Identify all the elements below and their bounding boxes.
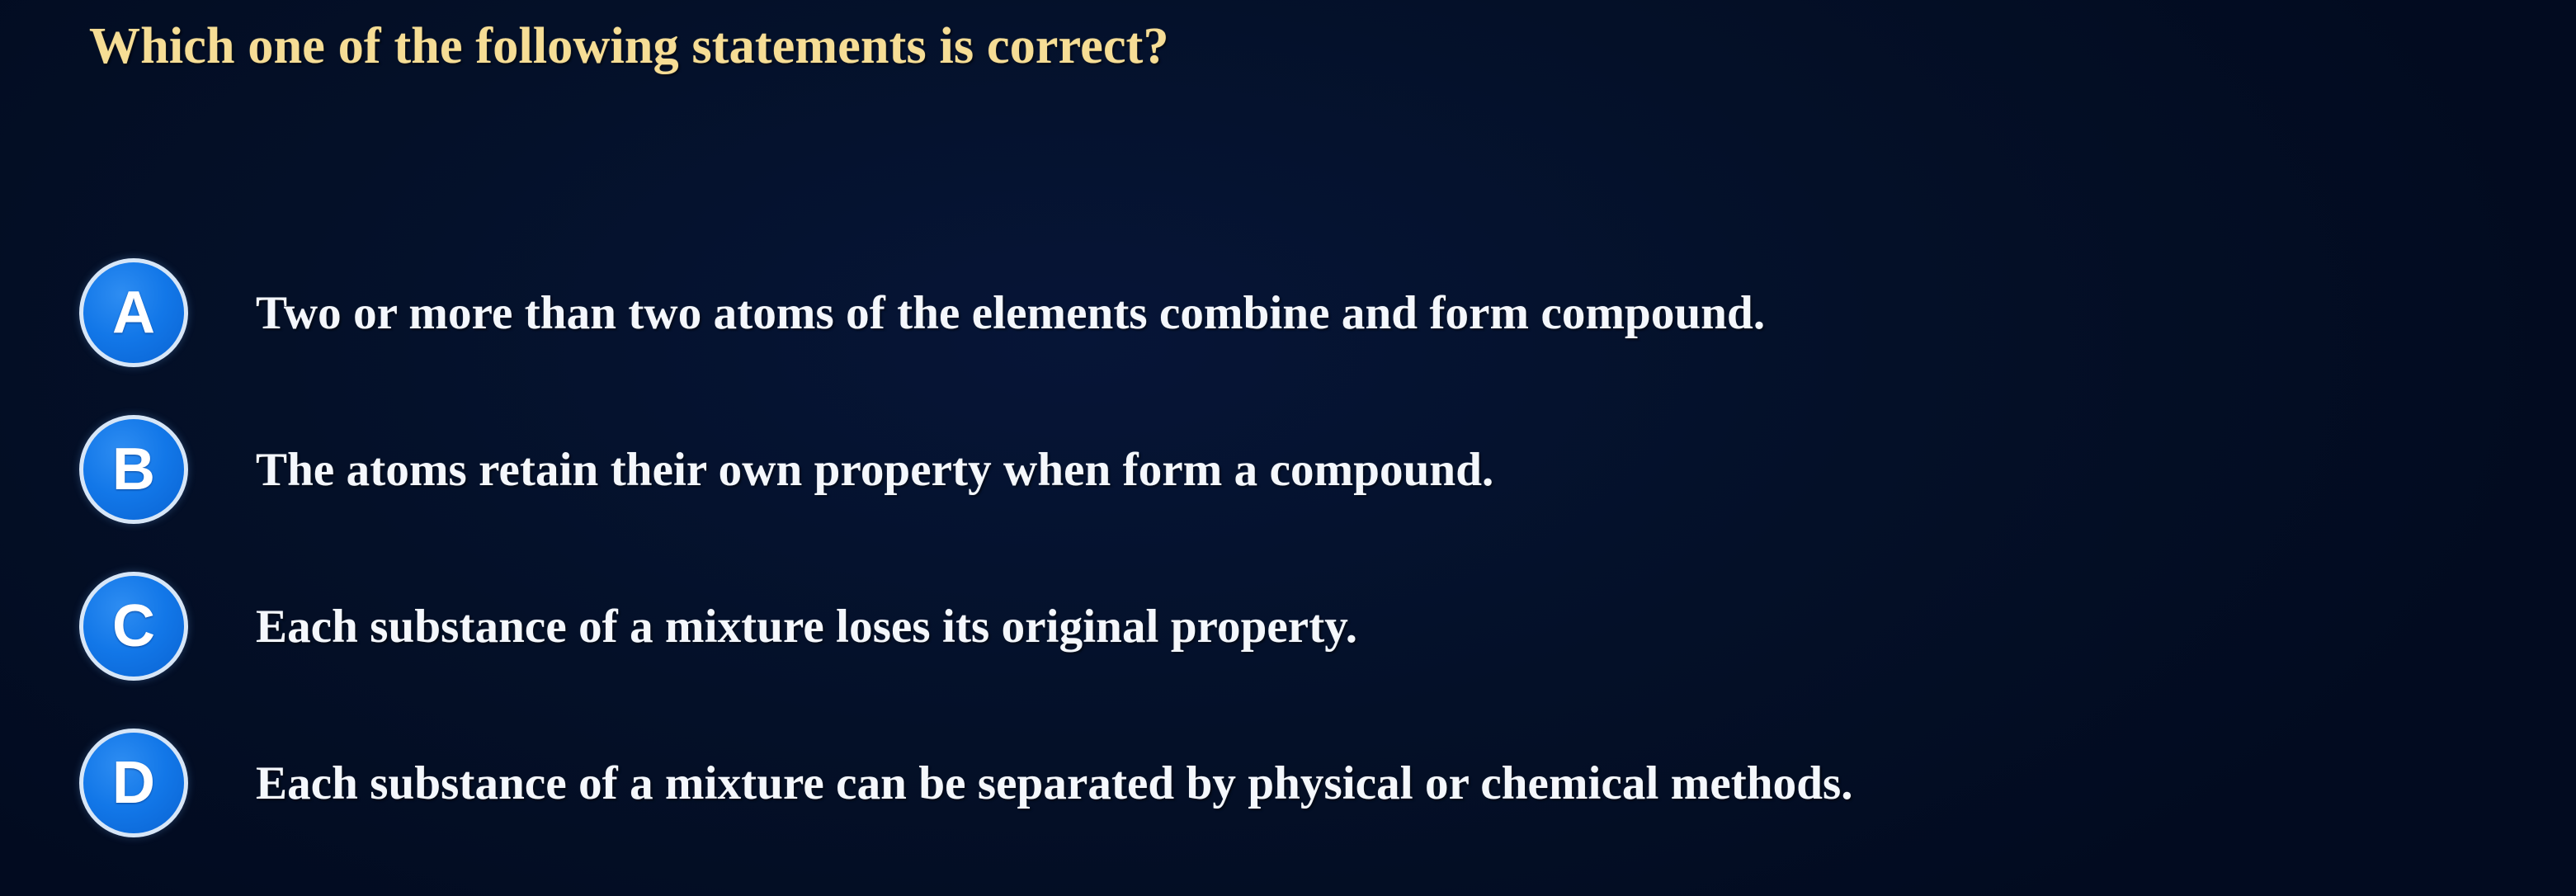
option-badge-c[interactable]: C bbox=[79, 572, 188, 681]
option-badge-b[interactable]: B bbox=[79, 415, 188, 524]
option-letter-b: B bbox=[112, 440, 155, 499]
option-text-a[interactable]: Two or more than two atoms of the elemen… bbox=[256, 245, 1765, 382]
question-title: Which one of the following statements is… bbox=[89, 12, 2399, 81]
answer-option-c[interactable]: C Each substance of a mixture loses its … bbox=[0, 559, 2576, 715]
answer-option-a[interactable]: A Two or more than two atoms of the elem… bbox=[0, 245, 2576, 402]
option-letter-a: A bbox=[112, 283, 155, 342]
option-text-d[interactable]: Each substance of a mixture can be separ… bbox=[256, 715, 1853, 852]
option-letter-d: D bbox=[112, 753, 155, 813]
answer-options-list: A Two or more than two atoms of the elem… bbox=[0, 245, 2576, 872]
option-text-c[interactable]: Each substance of a mixture loses its or… bbox=[256, 559, 1357, 696]
quiz-question-card: Which one of the following statements is… bbox=[0, 0, 2576, 896]
option-letter-c: C bbox=[112, 597, 155, 656]
option-badge-a[interactable]: A bbox=[79, 258, 188, 367]
option-text-b[interactable]: The atoms retain their own property when… bbox=[256, 402, 1493, 539]
answer-option-b[interactable]: B The atoms retain their own property wh… bbox=[0, 402, 2576, 559]
option-badge-d[interactable]: D bbox=[79, 729, 188, 837]
answer-option-d[interactable]: D Each substance of a mixture can be sep… bbox=[0, 715, 2576, 872]
